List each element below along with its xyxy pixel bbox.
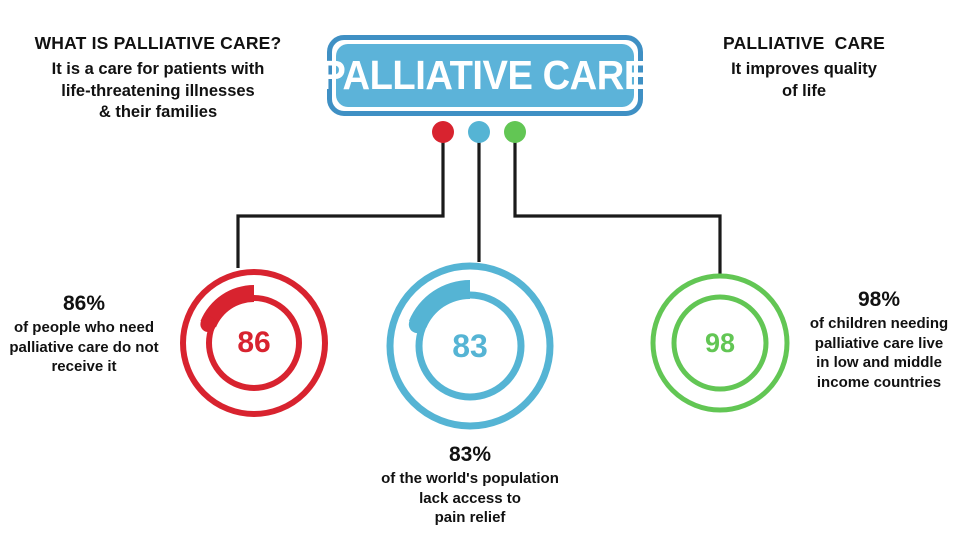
red-dot-icon (432, 121, 454, 143)
stat-blue-percent: 83% (362, 443, 578, 467)
connector-line-green (515, 132, 720, 274)
donut-blue-svg (382, 258, 558, 434)
palliative-care-banner: PALLIATIVE CARE (327, 35, 643, 116)
stat-green-line-2: palliative care live (800, 334, 958, 354)
stat-blue-line-2: lack access to (362, 489, 578, 509)
intro-right-line-2: of life (662, 81, 946, 103)
stat-red-line-3: receive it (0, 357, 168, 377)
stat-caption-red: 86% of people who need palliative care d… (0, 292, 168, 377)
intro-left-line-1: It is a care for patients with (8, 59, 308, 81)
stat-red-line-2: palliative care do not (0, 338, 168, 358)
green-dot-icon (504, 121, 526, 143)
intro-left-line-2: life-threatening illnesses (8, 81, 308, 103)
palliative-care-infographic: WHAT IS PALLIATIVE CARE? It is a care fo… (0, 0, 958, 539)
stat-green-percent: 98% (800, 288, 958, 312)
intro-right-heading: PALLIATIVE CARE (662, 33, 946, 55)
donut-chart-green: 98 (648, 271, 792, 415)
intro-left-heading: WHAT IS PALLIATIVE CARE? (8, 33, 308, 55)
donut-red-svg (176, 265, 332, 421)
stat-blue-line-1: of the world's population (362, 469, 578, 489)
stat-green-line-3: in low and middle (800, 353, 958, 373)
stat-caption-blue: 83% of the world's population lack acces… (362, 443, 578, 528)
intro-left-line-3: & their families (8, 102, 308, 124)
intro-left-block: WHAT IS PALLIATIVE CARE? It is a care fo… (8, 33, 308, 124)
donut-red-arc-cap (200, 316, 216, 332)
stat-green-line-4: income countries (800, 373, 958, 393)
intro-right-line-1: It improves quality (662, 59, 946, 81)
stat-blue-line-3: pain relief (362, 508, 578, 528)
stat-red-percent: 86% (0, 292, 168, 316)
stat-green-line-1: of children needing (800, 314, 958, 334)
donut-chart-red: 86 (176, 265, 332, 421)
donut-chart-blue: 83 (382, 258, 558, 434)
stat-caption-green: 98% of children needing palliative care … (800, 288, 958, 392)
connector-line-red (238, 132, 443, 268)
intro-right-block: PALLIATIVE CARE It improves quality of l… (662, 33, 946, 102)
donut-green-inner-ring (674, 297, 766, 389)
donut-green-svg (648, 271, 792, 415)
stat-red-line-1: of people who need (0, 318, 168, 338)
donut-blue-arc-cap (409, 316, 427, 334)
banner-title: PALLIATIVE CARE (321, 55, 649, 96)
banner-inner-panel: PALLIATIVE CARE (336, 44, 634, 107)
blue-dot-icon (468, 121, 490, 143)
